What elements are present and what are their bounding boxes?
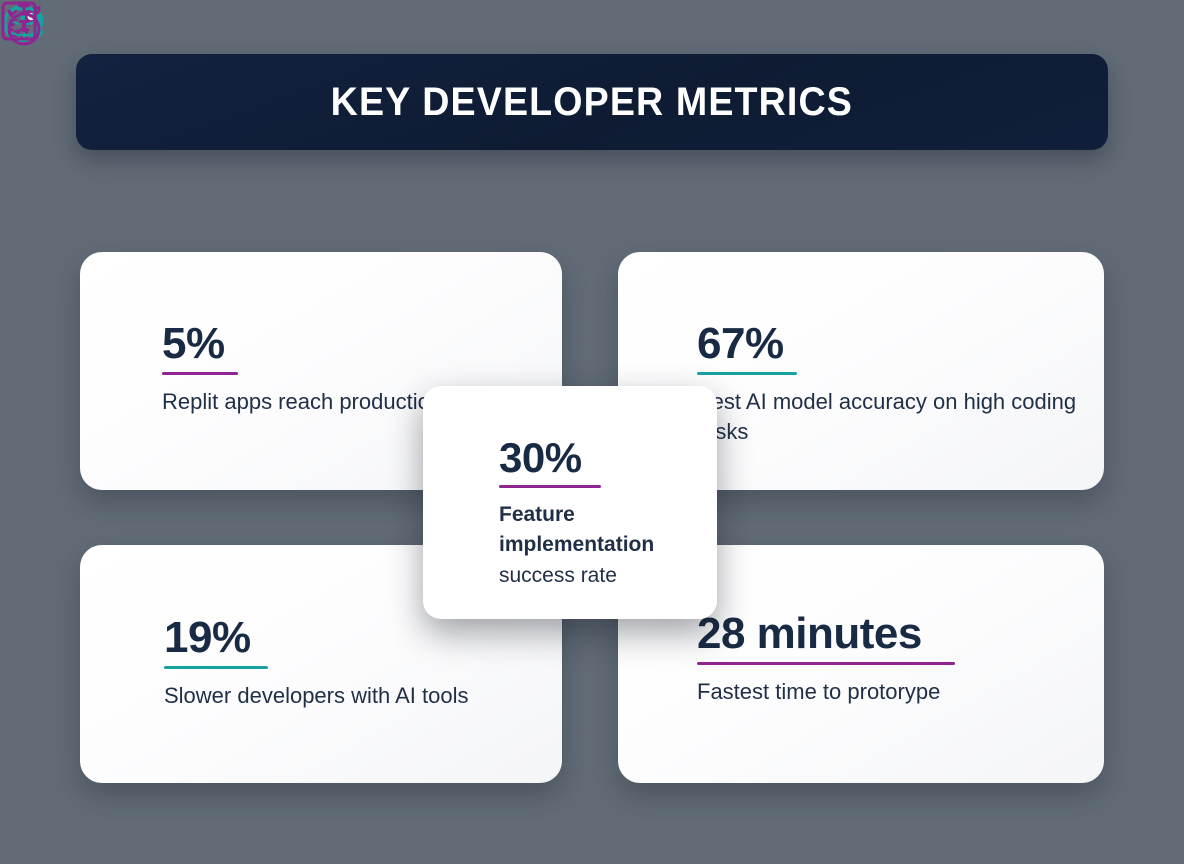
stat-label-feature: Feature implementation success rate [499,500,699,591]
stat-label-feature-bold: Feature implementation [499,503,654,556]
stat-value-feature: 30% [499,437,582,485]
stat-value-prototype: 28 minutes [697,612,922,662]
stat-underline-accuracy [697,372,797,375]
stat-value-accuracy: 67% [697,322,784,372]
checklist-icon [0,0,38,42]
stat-value-slower: 19% [164,616,251,666]
stat-label-slower: Slower developers with AI tools [164,681,504,711]
header-banner: KEY DEVELOPER METRICS [76,54,1108,150]
stat-value-replit: 5% [162,322,225,372]
stat-label-feature-rest: success rate [499,564,617,587]
metric-body-prototype: 28 minutes Fastest time to protorype [697,612,1077,707]
stat-underline-replit [162,372,238,375]
page-title: KEY DEVELOPER METRICS [331,80,853,125]
stat-label-prototype: Fastest time to protorype [697,677,1077,707]
stat-label-accuracy: Best AI model accuracy on high coding ta… [697,387,1087,448]
stat-underline-feature [499,485,601,488]
metric-body-slower: 19% Slower developers with AI tools [164,616,504,711]
stat-underline-slower [164,666,268,669]
metric-body-accuracy: 67% Best AI model accuracy on high codin… [697,322,1087,448]
metric-body-feature: 30% Feature implementation success rate [499,437,699,591]
stat-underline-prototype [697,662,955,665]
